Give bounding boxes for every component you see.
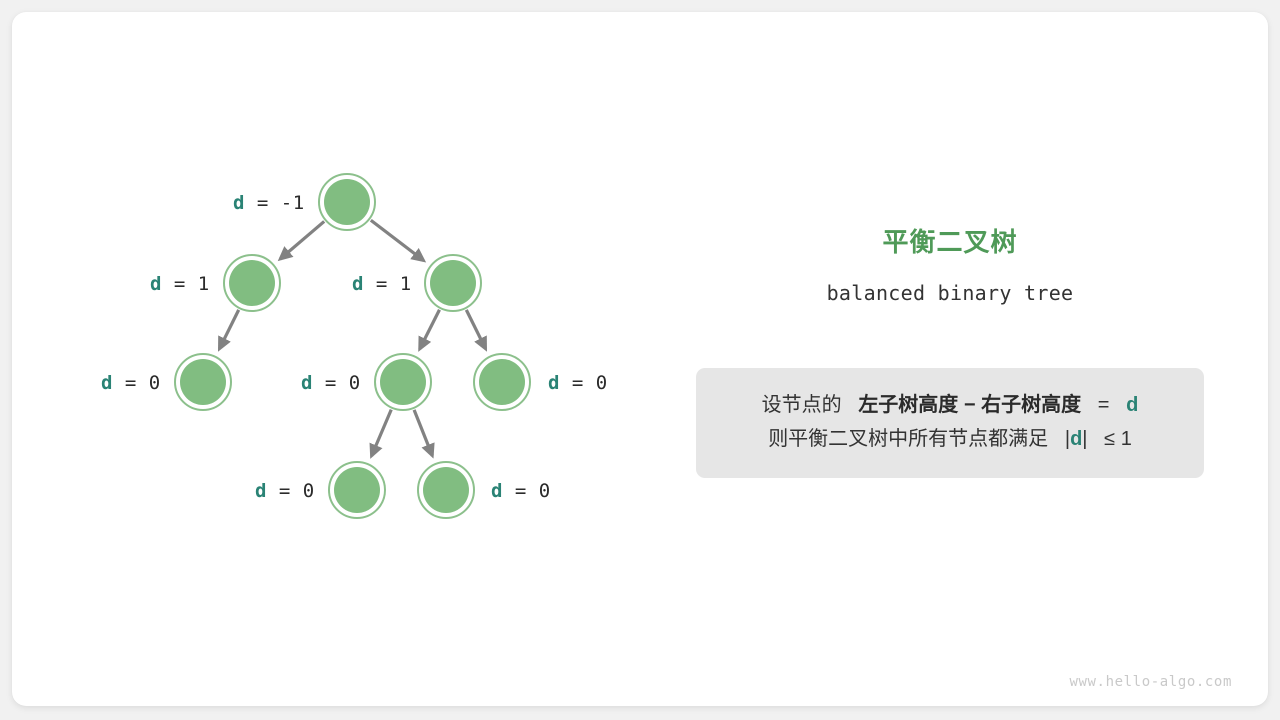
node-balance-variable: d	[150, 273, 162, 295]
tree-node-fill	[479, 359, 525, 405]
tree-edge	[280, 221, 324, 259]
tree-edge	[466, 310, 485, 349]
tree-nodes	[175, 174, 530, 518]
tree-node-fill	[180, 359, 226, 405]
node-balance-variable: d	[101, 372, 113, 394]
info-panel: 平衡二叉树 balanced binary tree	[696, 222, 1204, 305]
tree-node[interactable]	[418, 462, 474, 518]
definition-box: 设节点的 左子树高度 − 右子树高度 = d 则平衡二叉树中所有节点都满足 |d…	[696, 368, 1204, 478]
tree-node[interactable]	[329, 462, 385, 518]
definition-prefix-1: 设节点的	[762, 394, 842, 416]
node-balance-variable: d	[233, 192, 245, 214]
definition-formula: 左子树高度 − 右子树高度	[858, 394, 1081, 416]
definition-line-1: 设节点的 左子树高度 − 右子树高度 = d	[696, 388, 1204, 422]
tree-node-fill	[430, 260, 476, 306]
panel-subtitle: balanced binary tree	[696, 281, 1204, 305]
definition-prefix-2: 则平衡二叉树中所有节点都满足	[768, 428, 1048, 450]
tree-node-fill	[380, 359, 426, 405]
tree-edge	[420, 310, 440, 349]
tree-edge	[219, 310, 238, 349]
tree-node-fill	[229, 260, 275, 306]
node-balance-variable: d	[548, 372, 560, 394]
node-balance-value: = 0	[313, 372, 361, 394]
node-balance-value: = 0	[503, 480, 551, 502]
node-balance-label: d = -1	[233, 192, 305, 214]
watermark: www.hello-algo.com	[1069, 674, 1232, 690]
definition-equals: =	[1098, 394, 1110, 416]
node-balance-label: d = 0	[491, 480, 551, 502]
node-balance-value: = 1	[162, 273, 210, 295]
tree-edge	[414, 410, 432, 456]
tree-node[interactable]	[319, 174, 375, 230]
definition-line-2: 则平衡二叉树中所有节点都满足 |d| ≤ 1	[696, 422, 1204, 456]
tree-node[interactable]	[224, 255, 280, 311]
node-balance-label: d = 1	[352, 273, 412, 295]
node-balance-label: d = 0	[548, 372, 608, 394]
node-balance-variable: d	[301, 372, 313, 394]
panel-title: 平衡二叉树	[696, 222, 1204, 259]
node-balance-label: d = 0	[255, 480, 315, 502]
node-balance-label: d = 0	[301, 372, 361, 394]
node-balance-variable: d	[491, 480, 503, 502]
tree-edge	[371, 410, 391, 456]
definition-variable-d: d	[1126, 394, 1138, 416]
tree-node-fill	[334, 467, 380, 513]
tree-node[interactable]	[425, 255, 481, 311]
node-balance-value: = 1	[364, 273, 412, 295]
definition-variable-d-abs: d	[1070, 428, 1082, 450]
tree-node-fill	[423, 467, 469, 513]
abs-bar-close: |	[1082, 428, 1087, 450]
node-balance-value: = 0	[560, 372, 608, 394]
tree-node[interactable]	[474, 354, 530, 410]
node-balance-label: d = 1	[150, 273, 210, 295]
tree-node-fill	[324, 179, 370, 225]
definition-comparator: ≤ 1	[1104, 428, 1132, 450]
tree-node[interactable]	[375, 354, 431, 410]
node-balance-label: d = 0	[101, 372, 161, 394]
tree-edge	[371, 220, 424, 260]
binary-tree-graphic	[0, 0, 1280, 720]
node-balance-value: = -1	[245, 192, 305, 214]
node-balance-value: = 0	[267, 480, 315, 502]
node-balance-value: = 0	[113, 372, 161, 394]
node-balance-variable: d	[255, 480, 267, 502]
tree-node[interactable]	[175, 354, 231, 410]
node-balance-variable: d	[352, 273, 364, 295]
diagram-canvas: d = -1d = 1d = 1d = 0d = 0d = 0d = 0d = …	[0, 0, 1280, 720]
